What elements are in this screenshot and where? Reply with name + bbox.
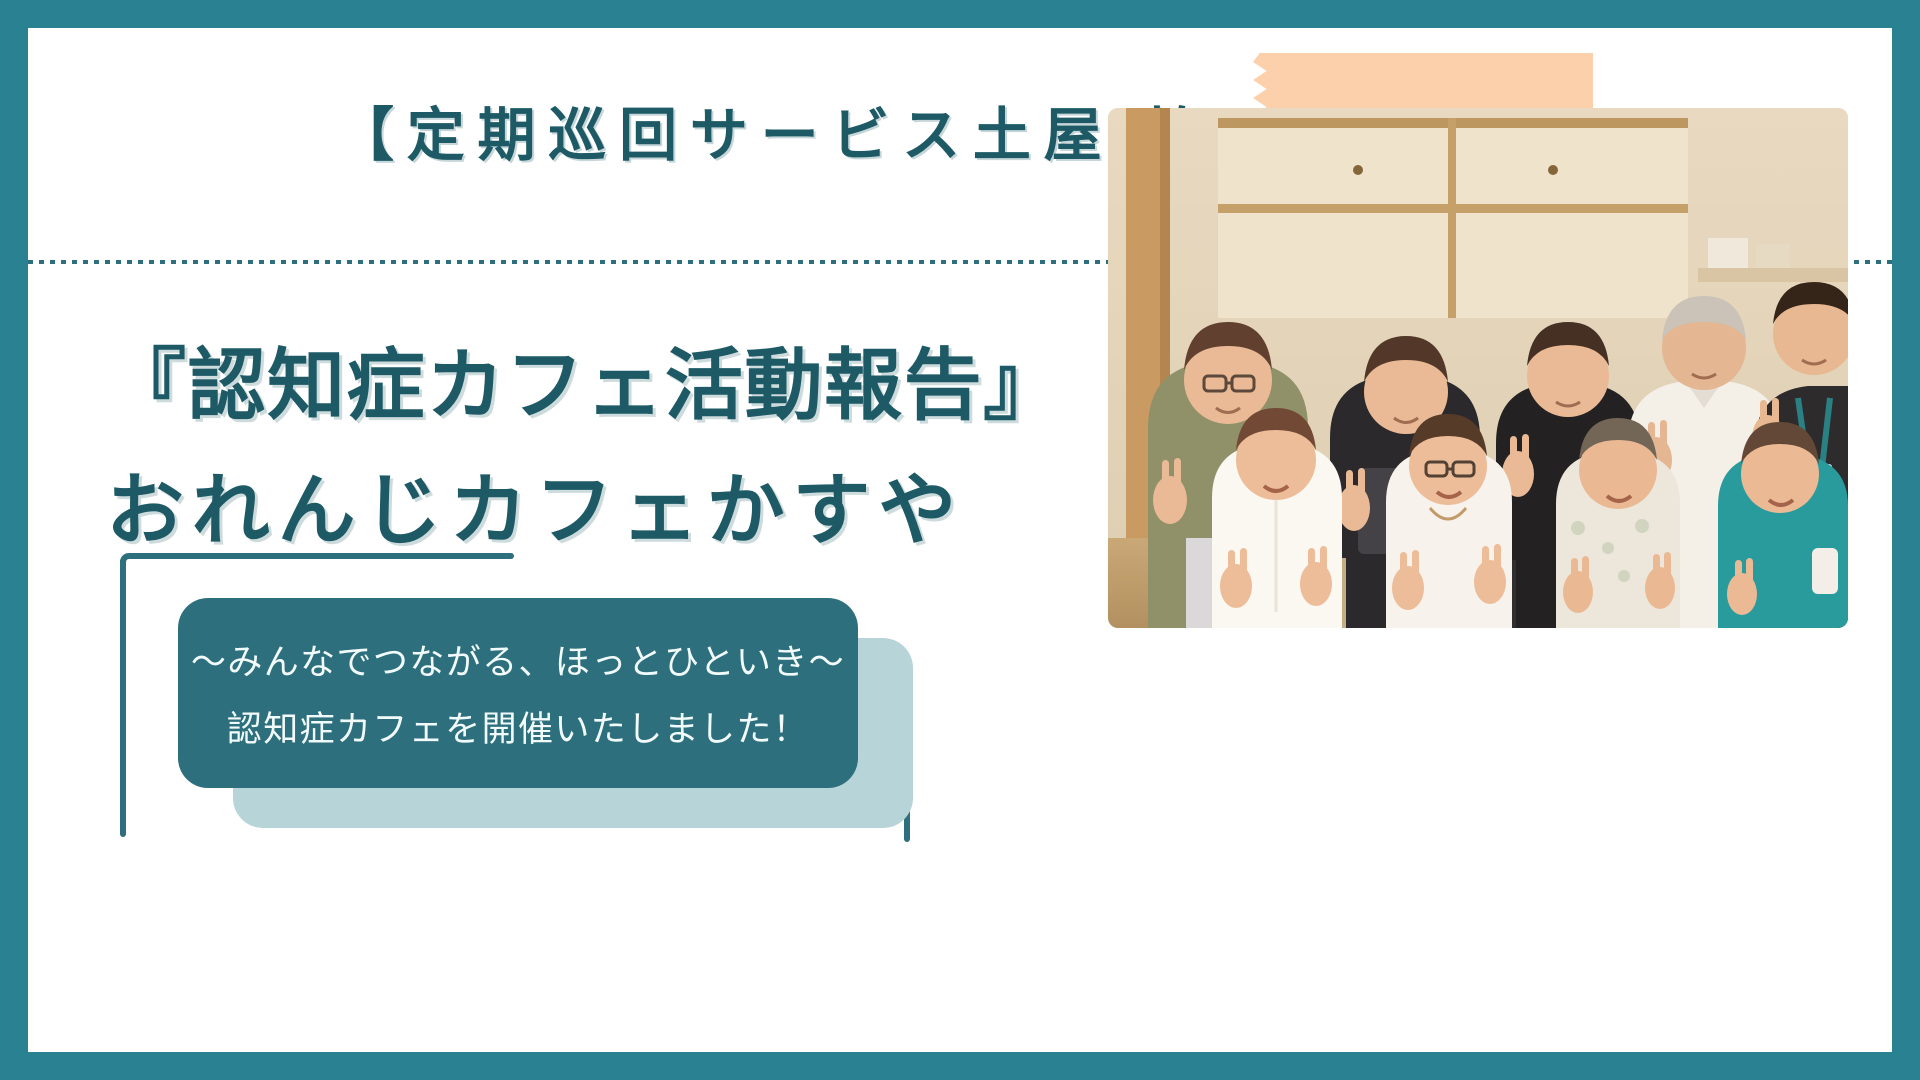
callout-line-2: 認知症カフェを開催いたしました！ xyxy=(227,701,809,752)
callout-box: 〜みんなでつながる、ほっとひといき〜 認知症カフェを開催いたしました！ xyxy=(178,598,858,788)
page-title-primary: 『認知症カフェ活動報告』 xyxy=(108,323,1063,435)
group-photo-illustration xyxy=(1108,108,1848,628)
bracket-left-rule xyxy=(120,558,126,837)
blog-banner: 【定期巡回サービス土屋 粕屋 ブログ】 『認知症カフェ活動報告』 おれんじカフェ… xyxy=(0,0,1920,1080)
page-title-secondary: おれんじカフェかすや xyxy=(106,448,964,560)
group-photo xyxy=(1108,108,1848,628)
banner-text-column: 『認知症カフェ活動報告』 おれんじカフェかすや 〜みんなでつながる、ほっとひとい… xyxy=(28,278,1038,1038)
callout-line-1: 〜みんなでつながる、ほっとひといき〜 xyxy=(191,634,845,685)
banner-card: 【定期巡回サービス土屋 粕屋 ブログ】 『認知症カフェ活動報告』 おれんじカフェ… xyxy=(28,28,1892,1052)
photo-area xyxy=(1108,88,1848,628)
